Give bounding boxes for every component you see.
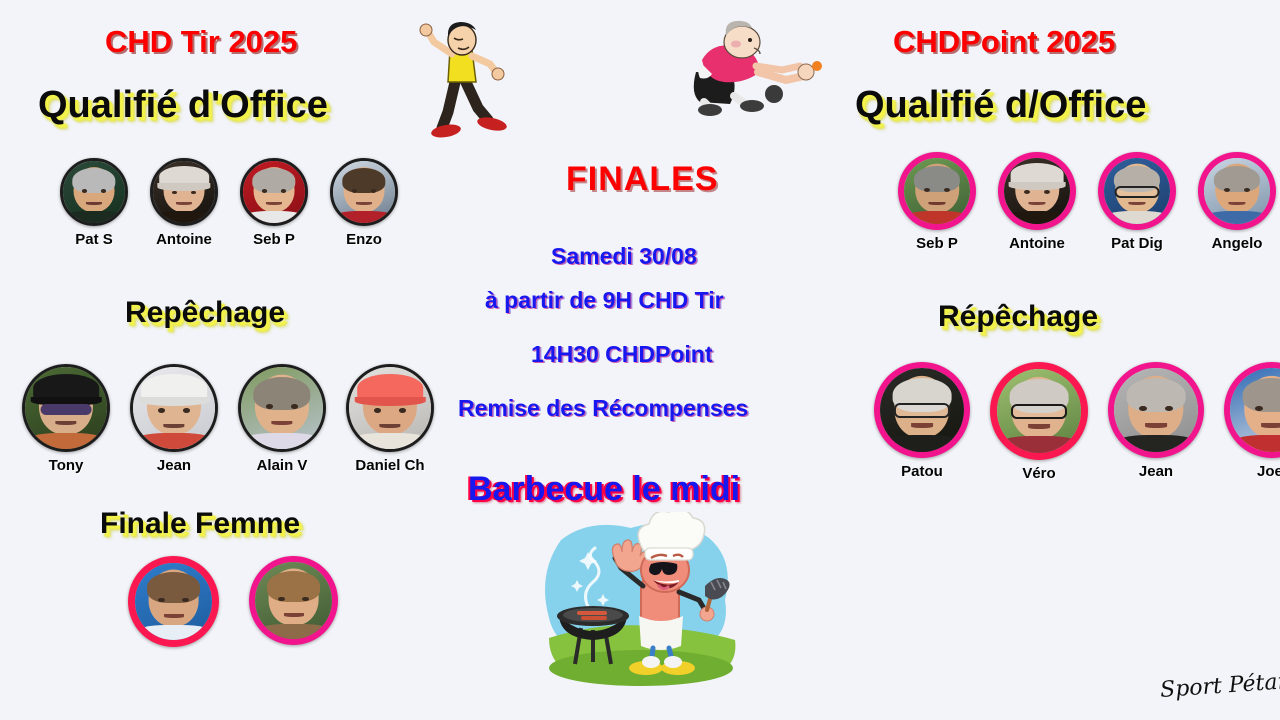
avatar[interactable]: [150, 158, 218, 226]
person-card[interactable]: Seb P: [898, 152, 976, 252]
avatar[interactable]: [1098, 152, 1176, 230]
petanque-pointer-cartoon-icon: [682, 18, 832, 118]
person-name: Jean: [157, 457, 191, 474]
person-name: Angelo: [1212, 235, 1263, 252]
avatar[interactable]: [874, 362, 970, 458]
person-name: Daniel Ch: [355, 457, 424, 474]
person-name: Pat S: [75, 231, 113, 248]
avatar[interactable]: [330, 158, 398, 226]
avatar[interactable]: [1198, 152, 1276, 230]
petanque-shooter-cartoon-icon: [398, 16, 520, 138]
right-qualified-row: Seb P Antoine: [898, 152, 1276, 252]
left-qualified-heading: Qualifié d'Office: [38, 84, 328, 127]
person-name: Joel: [1257, 463, 1280, 480]
finales-line-4: Remise des Récompenses: [458, 395, 748, 422]
right-repechage-row: Patou Véro: [874, 362, 1280, 482]
avatar[interactable]: [240, 158, 308, 226]
avatar[interactable]: [1108, 362, 1204, 458]
avatar[interactable]: [249, 556, 338, 645]
avatar[interactable]: [238, 364, 326, 452]
person-card[interactable]: Joel: [1224, 362, 1280, 480]
person-card[interactable]: Tony: [22, 364, 110, 474]
person-card[interactable]: Pat S: [60, 158, 128, 248]
right-column-title: CHDPoint 2025: [893, 24, 1115, 60]
finales-heading: FINALES: [566, 160, 718, 199]
person-card[interactable]: [128, 556, 219, 652]
finales-line-2: à partir de 9H CHD Tir: [485, 287, 724, 314]
avatar[interactable]: [346, 364, 434, 452]
person-card[interactable]: Pat Dig: [1098, 152, 1176, 252]
person-card[interactable]: Enzo: [330, 158, 398, 248]
finales-line-3: 14H30 CHDPoint: [531, 341, 712, 368]
finale-femme-heading: Finale Femme: [100, 507, 300, 541]
finale-femme-row: [128, 556, 338, 652]
barbecue-sausage-chef-cartoon-icon: [533, 512, 748, 697]
person-card[interactable]: Jean: [130, 364, 218, 474]
avatar[interactable]: [898, 152, 976, 230]
right-repechage-heading: Répêchage: [938, 300, 1098, 334]
sport-petanque-signature: Sport Pétanque: [1159, 666, 1280, 703]
person-card[interactable]: Angelo: [1198, 152, 1276, 252]
person-name: Patou: [901, 463, 943, 480]
barbecue-heading: Barbecue le midi: [468, 470, 740, 509]
avatar[interactable]: [60, 158, 128, 226]
person-card[interactable]: Daniel Ch: [346, 364, 434, 474]
person-card[interactable]: Antoine: [998, 152, 1076, 252]
left-qualified-row: Pat S Antoine: [60, 158, 398, 248]
left-repechage-heading: Repêchage: [125, 296, 285, 330]
person-name: Seb P: [253, 231, 295, 248]
person-card[interactable]: Antoine: [150, 158, 218, 248]
person-name: Pat Dig: [1111, 235, 1163, 252]
person-name: Antoine: [156, 231, 212, 248]
finales-line-1: Samedi 30/08: [551, 243, 697, 270]
person-name: Seb P: [916, 235, 958, 252]
avatar[interactable]: [998, 152, 1076, 230]
person-name: Tony: [49, 457, 84, 474]
avatar[interactable]: [128, 556, 219, 647]
avatar[interactable]: [22, 364, 110, 452]
person-name: Jean: [1139, 463, 1173, 480]
right-qualified-heading: Qualifié d/Office: [855, 84, 1146, 127]
poster-canvas: CHD Tir 2025 Qualifié d'Office: [0, 0, 1280, 720]
person-card[interactable]: Patou: [874, 362, 970, 480]
person-card[interactable]: Seb P: [240, 158, 308, 248]
avatar[interactable]: [1224, 362, 1280, 458]
person-card[interactable]: Jean: [1108, 362, 1204, 480]
person-name: Véro: [1022, 465, 1055, 482]
avatar[interactable]: [130, 364, 218, 452]
avatar[interactable]: [990, 362, 1088, 460]
person-card[interactable]: [249, 556, 338, 650]
left-column-title: CHD Tir 2025: [105, 24, 297, 60]
person-card[interactable]: Alain V: [238, 364, 326, 474]
person-card[interactable]: Véro: [990, 362, 1088, 482]
left-repechage-row: Tony Jean: [22, 364, 434, 474]
person-name: Enzo: [346, 231, 382, 248]
person-name: Antoine: [1009, 235, 1065, 252]
person-name: Alain V: [257, 457, 308, 474]
